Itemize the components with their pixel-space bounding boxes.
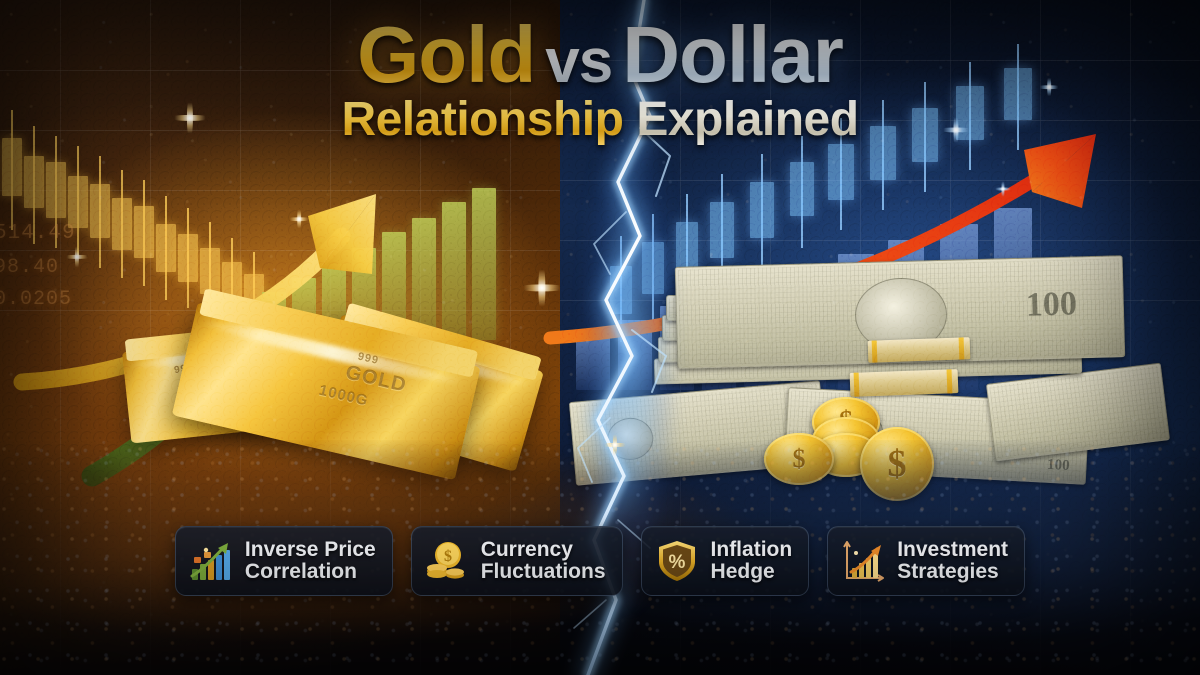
feature-label-line2: Hedge bbox=[711, 561, 793, 583]
feature-label-line2: Fluctuations bbox=[481, 561, 606, 583]
title-word-vs: vs bbox=[535, 27, 622, 96]
feature-chip-currency-fluctuations[interactable]: $ Currency Fluctuations bbox=[411, 526, 623, 596]
title-line-2: Relationship Explained bbox=[0, 92, 1200, 147]
title-block: GoldvsDollar Relationship Explained bbox=[0, 16, 1200, 147]
title-line-1: GoldvsDollar bbox=[0, 16, 1200, 94]
subtitle-word-relationship: Relationship bbox=[341, 93, 623, 146]
feature-chip-label: Investment Strategies bbox=[897, 539, 1008, 584]
shield-percent-icon: % bbox=[654, 538, 700, 584]
feature-chip-inverse-price-correlation[interactable]: Inverse Price Correlation bbox=[175, 526, 393, 596]
feature-chip-row: Inverse Price Correlation $ Currenc bbox=[0, 525, 1200, 597]
growth-chart-arrow-icon bbox=[840, 538, 886, 584]
feature-label-line1: Inflation bbox=[711, 538, 793, 561]
feature-label-line1: Inverse Price bbox=[245, 538, 376, 561]
feature-chip-inflation-hedge[interactable]: % Inflation Hedge bbox=[641, 526, 810, 596]
subtitle-word-explained: Explained bbox=[636, 93, 858, 146]
feature-label-line1: Investment bbox=[897, 538, 1008, 561]
banner-stage: 514.49 98.40 0.0205 bbox=[0, 0, 1200, 675]
title-word-dollar: Dollar bbox=[622, 10, 843, 99]
feature-chip-label: Inflation Hedge bbox=[711, 539, 793, 584]
feature-chip-label: Inverse Price Correlation bbox=[245, 539, 376, 584]
gold-coins-dollar-icon: $ bbox=[424, 538, 470, 584]
feature-label-line1: Currency bbox=[481, 538, 573, 561]
svg-text:%: % bbox=[668, 552, 685, 573]
feature-label-line2: Correlation bbox=[245, 561, 376, 583]
svg-text:$: $ bbox=[444, 548, 452, 565]
feature-chip-investment-strategies[interactable]: Investment Strategies bbox=[827, 526, 1025, 596]
title-word-gold: Gold bbox=[357, 10, 535, 99]
bar-chart-up-arrow-icon bbox=[188, 538, 234, 584]
feature-label-line2: Strategies bbox=[897, 561, 1008, 583]
feature-chip-label: Currency Fluctuations bbox=[481, 539, 606, 584]
